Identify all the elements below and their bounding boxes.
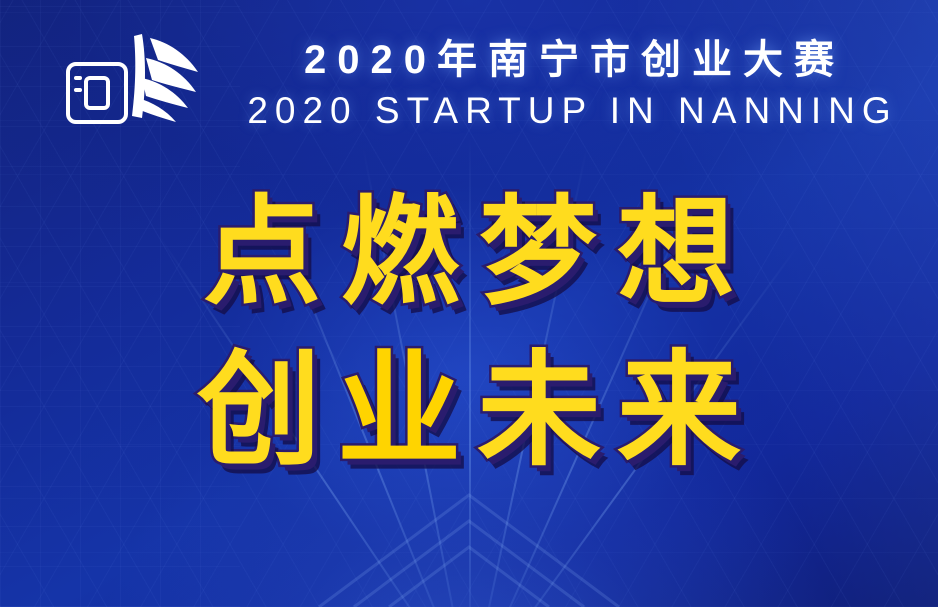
- slogan-line-1: 点燃梦想: [0, 186, 938, 318]
- slogan-line-2-part1: 创: [197, 339, 337, 483]
- poster-header: 2020年南宁市创业大赛 2020 STARTUP IN NANNING: [224, 36, 914, 132]
- header-title-cn: 2020年南宁市创业大赛: [224, 36, 914, 84]
- slogan-line-2-part2: 业: [337, 339, 477, 483]
- poster-image: 2020年南宁市创业大赛 2020 STARTUP IN NANNING 点燃梦…: [0, 0, 938, 607]
- poster-slogan: 点燃梦想 创业未来: [0, 186, 938, 481]
- slogan-line-2: 创业未来: [0, 342, 938, 481]
- header-title-en: 2020 STARTUP IN NANNING: [224, 90, 914, 132]
- slogan-line-2-part3: 未来: [477, 339, 757, 483]
- nanning-startup-wing-logo: [46, 28, 202, 140]
